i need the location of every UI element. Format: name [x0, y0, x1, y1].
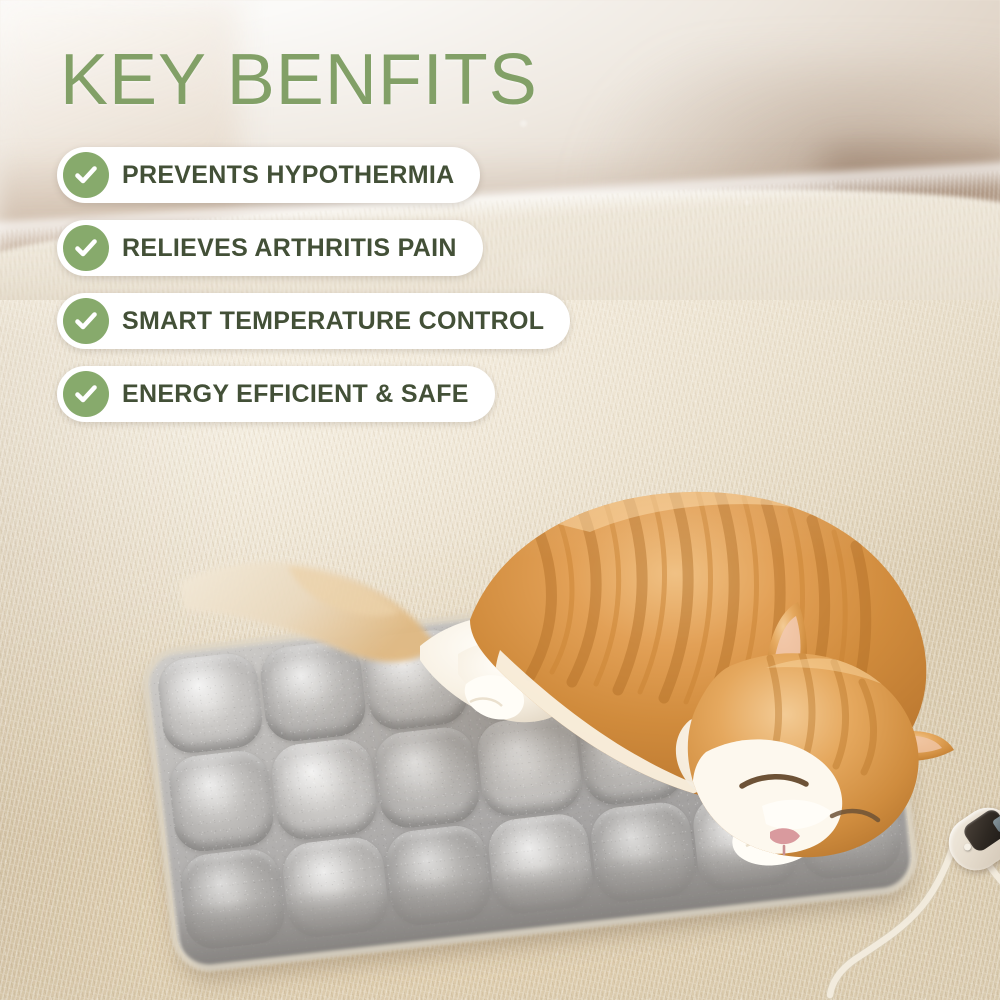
benefit-row: PREVENTS HYPOTHERMIA: [57, 147, 570, 220]
benefits-list: PREVENTS HYPOTHERMIA RELIEVES ARTHRITIS …: [57, 147, 570, 439]
benefit-label: ENERGY EFFICIENT & SAFE: [122, 380, 469, 409]
page-title: KEY BENFITS: [60, 44, 538, 116]
check-icon: [63, 371, 109, 417]
benefit-row: RELIEVES ARTHRITIS PAIN: [57, 220, 570, 293]
check-icon: [63, 225, 109, 271]
check-icon: [63, 298, 109, 344]
benefit-label: RELIEVES ARTHRITIS PAIN: [122, 234, 457, 263]
text-overlay: KEY BENFITS PREVENTS HYPOTHERMIA: [0, 0, 1000, 1000]
benefit-item-3[interactable]: SMART TEMPERATURE CONTROL: [57, 293, 570, 349]
benefit-label: SMART TEMPERATURE CONTROL: [122, 307, 544, 336]
benefit-label: PREVENTS HYPOTHERMIA: [122, 161, 454, 190]
product-benefits-graphic: KEY BENFITS PREVENTS HYPOTHERMIA: [0, 0, 1000, 1000]
benefit-item-4[interactable]: ENERGY EFFICIENT & SAFE: [57, 366, 495, 422]
benefit-item-1[interactable]: PREVENTS HYPOTHERMIA: [57, 147, 480, 203]
benefit-row: ENERGY EFFICIENT & SAFE: [57, 366, 570, 439]
benefit-row: SMART TEMPERATURE CONTROL: [57, 293, 570, 366]
benefit-item-2[interactable]: RELIEVES ARTHRITIS PAIN: [57, 220, 483, 276]
check-icon: [63, 152, 109, 198]
